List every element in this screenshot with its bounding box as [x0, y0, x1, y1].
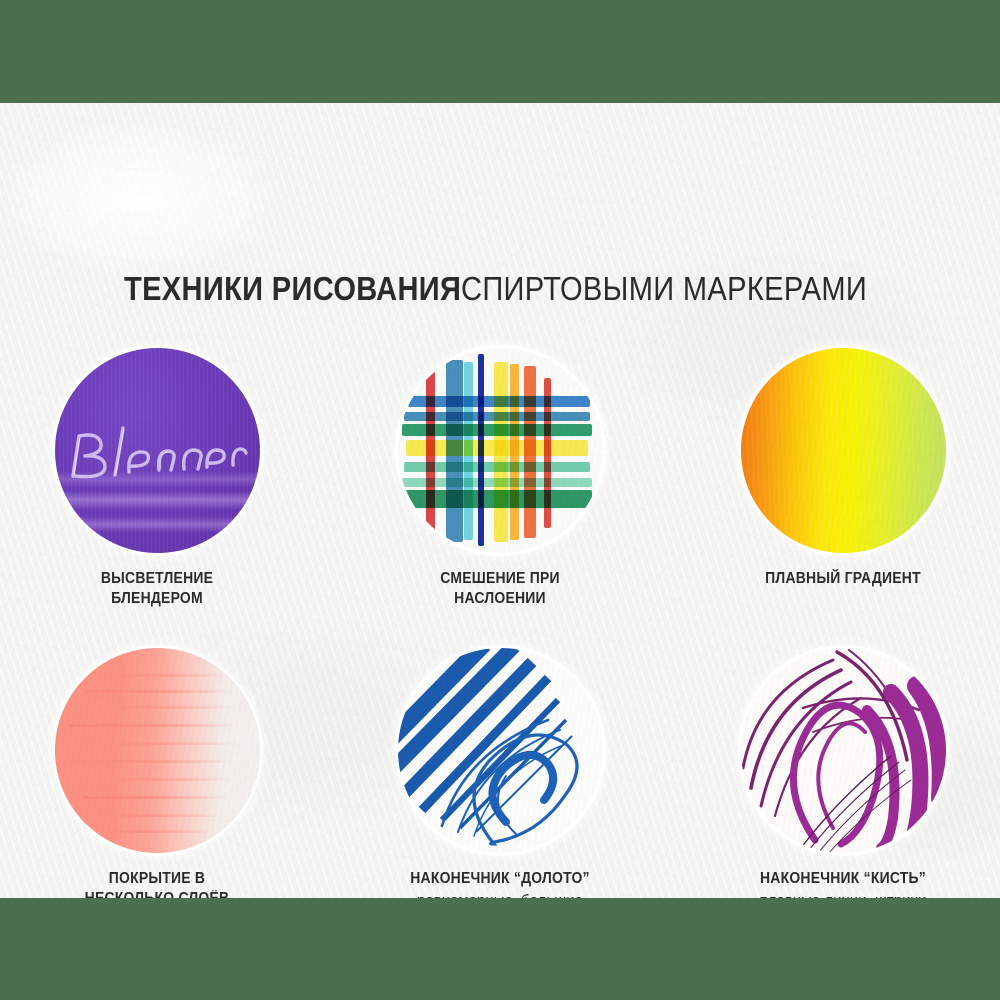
- pink-streak: [75, 778, 233, 781]
- pink-streak: [83, 796, 229, 799]
- blender-handwriting: [55, 348, 260, 553]
- caption-chisel-nib: НАКОНЕЧНИК “ДОЛОТО” равномерные, большие…: [333, 869, 667, 898]
- swatch-smooth-gradient: [741, 348, 946, 553]
- poster: ТЕХНИКИ РИСОВАНИЯ СПИРТОВЫМИ МАРКЕРАМИ: [0, 0, 1000, 1000]
- caption-title-line1: ПОКРЫТИЕ В: [7, 869, 308, 889]
- pink-streak: [69, 760, 237, 763]
- pink-streak: [115, 830, 211, 833]
- caption-subtitle-line1: равномерные, большие: [333, 891, 667, 898]
- swatch-chisel-nib: [398, 648, 603, 853]
- swatch-blender-lightening: [55, 348, 260, 553]
- sample-layered-blending: СМЕШЕНИЕ ПРИ НАСЛОЕНИИ: [333, 348, 667, 609]
- hatch-stroke-horizontal: [406, 440, 588, 456]
- pink-streak: [95, 674, 225, 677]
- hatch-stroke-horizontal: [404, 462, 590, 472]
- bottom-green-band: [0, 898, 1000, 1000]
- caption-title-line2: НЕСКОЛЬКО СЛОЁВ: [7, 889, 308, 898]
- pink-streak: [97, 814, 221, 817]
- caption-smooth-gradient: ПЛАВНЫЙ ГРАДИЕНТ: [676, 569, 1000, 589]
- hatch-stroke-horizontal: [408, 396, 590, 407]
- caption-title-line1: ВЫСВЕТЛЕНИЕ: [7, 569, 308, 589]
- sample-smooth-gradient: ПЛАВНЫЙ ГРАДИЕНТ: [676, 348, 1000, 589]
- sample-blender-lightening: ВЫСВЕТЛЕНИЕ БЛЕНДЕРОМ: [0, 348, 324, 609]
- pink-streak: [65, 742, 240, 745]
- pink-base-wash: [55, 648, 260, 853]
- caption-blender-lightening: ВЫСВЕТЛЕНИЕ БЛЕНДЕРОМ: [0, 569, 324, 609]
- sample-multi-layer-coverage: ПОКРЫТИЕ В НЕСКОЛЬКО СЛОЁВ: [0, 648, 324, 898]
- hatch-stroke-horizontal: [404, 490, 592, 508]
- swatch-layered-blending: [398, 348, 603, 553]
- hatch-stroke-horizontal: [404, 412, 590, 421]
- caption-brush-nib: НАКОНЕЧНИК “КИСТЬ” плавные линии, штрихи…: [676, 869, 1000, 898]
- swatch-multi-layer-coverage: [55, 648, 260, 853]
- caption-title-line2: БЛЕНДЕРОМ: [7, 589, 308, 609]
- title-light-part: СПИРТОВЫМИ МАРКЕРАМИ: [461, 272, 867, 305]
- pink-streak: [75, 706, 235, 709]
- caption-title-line1: НАКОНЕЧНИК “КИСТЬ”: [693, 869, 994, 889]
- caption-multi-layer-coverage: ПОКРЫТИЕ В НЕСКОЛЬКО СЛОЁВ: [0, 869, 324, 898]
- caption-subtitle-line1: плавные линии, штрихи: [676, 891, 1000, 898]
- caption-title-line1: ПЛАВНЫЙ ГРАДИЕНТ: [693, 569, 994, 589]
- title-bold-part: ТЕХНИКИ РИСОВАНИЯ: [124, 272, 461, 305]
- sample-brush-nib: НАКОНЕЧНИК “КИСТЬ” плавные линии, штрихи…: [676, 648, 1000, 898]
- swatch-brush-nib: [741, 648, 946, 853]
- page-title: ТЕХНИКИ РИСОВАНИЯ СПИРТОВЫМИ МАРКЕРАМИ: [0, 272, 1000, 305]
- hatch-stroke-horizontal: [402, 424, 592, 436]
- caption-title-line1: НАКОНЕЧНИК “ДОЛОТО”: [350, 869, 651, 889]
- hatch-stroke-horizontal: [402, 478, 592, 487]
- top-green-band: [0, 0, 1000, 103]
- pink-streak: [85, 690, 235, 693]
- paper-sheet: ТЕХНИКИ РИСОВАНИЯ СПИРТОВЫМИ МАРКЕРАМИ: [0, 103, 1000, 898]
- caption-title-line2: НАСЛОЕНИИ: [350, 589, 651, 609]
- caption-title-line1: СМЕШЕНИЕ ПРИ: [350, 569, 651, 589]
- pink-streak: [69, 724, 239, 727]
- sample-chisel-nib: НАКОНЕЧНИК “ДОЛОТО” равномерные, большие…: [333, 648, 667, 898]
- caption-layered-blending: СМЕШЕНИЕ ПРИ НАСЛОЕНИИ: [333, 569, 667, 609]
